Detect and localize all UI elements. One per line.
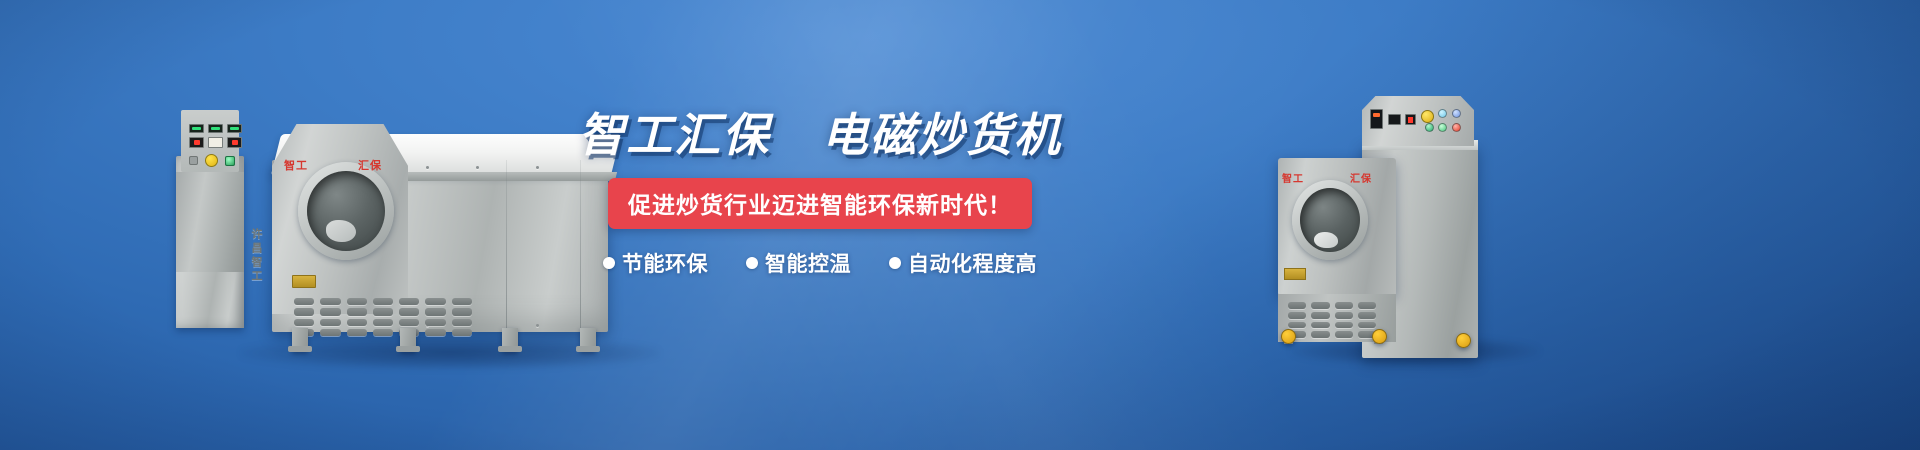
left-body-seam [506, 160, 507, 332]
emergency-stop-button [1421, 110, 1434, 123]
emergency-stop-button [205, 154, 218, 167]
right-machine-brand-mark-a: 智工 [1282, 170, 1304, 185]
run-button-icon [1438, 109, 1447, 118]
feature-item-3: 自动化程度高 [889, 248, 1037, 278]
left-machine-drum-opening [298, 162, 394, 260]
right-machine-brand-mark-b: 汇保 [1350, 170, 1372, 185]
feature-label: 自动化程度高 [908, 248, 1037, 278]
banner-headline: 智工汇保 电磁炒货机 [560, 110, 1080, 162]
caster-wheel-icon [1281, 329, 1296, 344]
rivet-icon [476, 166, 479, 169]
left-machine-nameplate [292, 275, 316, 288]
right-machine-drum-opening [1292, 180, 1368, 260]
heat-button-icon [1452, 109, 1461, 118]
meter-gauge [208, 124, 223, 133]
stop-button-icon [1452, 123, 1461, 132]
meter-gauge [227, 124, 242, 133]
right-machine-nameplate [1284, 268, 1306, 280]
banner-subtitle-pill: 促进炒货行业迈进智能环保新时代！ [608, 178, 1032, 229]
left-machine-brand-mark-a: 智工 [284, 157, 308, 173]
right-drum-interior-highlight [1314, 232, 1338, 248]
forward-button-icon [1438, 123, 1447, 132]
left-cabinet-lower [176, 172, 244, 272]
bullet-dot-icon [889, 257, 901, 269]
machine-leg [400, 328, 416, 352]
promo-banner: 许昌智工 智工 汇保 [0, 0, 1920, 450]
feature-item-1: 节能环保 [603, 248, 708, 278]
machine-leg [580, 328, 596, 352]
left-drum-interior-highlight [326, 220, 356, 242]
secondary-display [1388, 114, 1401, 125]
left-machine-brand-mark-b: 汇保 [358, 157, 382, 173]
bullet-dot-icon [746, 257, 758, 269]
banner-subtitle-row: 促进炒货行业迈进智能环保新时代！ [560, 178, 1080, 229]
rivet-icon [536, 166, 539, 169]
machine-leg [292, 328, 308, 352]
rivet-icon [426, 166, 429, 169]
headline-part-1: 智工汇保 [578, 109, 770, 161]
indicator-display [1405, 114, 1416, 125]
right-control-panel [1370, 108, 1466, 138]
banner-feature-list: 节能环保 智能控温 自动化程度高 [560, 248, 1080, 278]
speed-display [227, 137, 242, 148]
feature-label: 节能环保 [622, 248, 708, 278]
banner-copy-block: 智工汇保 电磁炒货机 促进炒货行业迈进智能环保新时代！ 节能环保 智能控温 自动… [560, 110, 1080, 278]
left-panel-displays [189, 137, 242, 148]
left-panel-controls [189, 154, 235, 167]
right-machine-vent-grille [1288, 302, 1376, 338]
temperature-display [1370, 109, 1383, 129]
machine-leg [502, 328, 518, 352]
rivet-icon [536, 324, 539, 327]
left-machine-vertical-brand-text: 许昌智工 [248, 228, 264, 284]
reverse-button-icon [1425, 123, 1434, 132]
meter-gauge [189, 124, 204, 133]
caster-wheel-icon [1372, 329, 1387, 344]
toggle-switch-icon [189, 156, 198, 165]
feature-item-2: 智能控温 [746, 248, 851, 278]
caster-wheel-icon [1456, 333, 1471, 348]
feature-label: 智能控温 [765, 248, 851, 278]
temperature-display [189, 137, 204, 148]
bullet-dot-icon [603, 257, 615, 269]
left-machine-legs [280, 328, 604, 352]
left-panel-meters [189, 124, 242, 133]
left-control-panel [181, 110, 239, 172]
headline-part-2: 电磁炒货机 [822, 109, 1062, 161]
start-button-icon [225, 156, 235, 166]
timer-display [208, 137, 223, 148]
product-image-roaster-vertical: 智工 汇保 [1278, 96, 1548, 352]
